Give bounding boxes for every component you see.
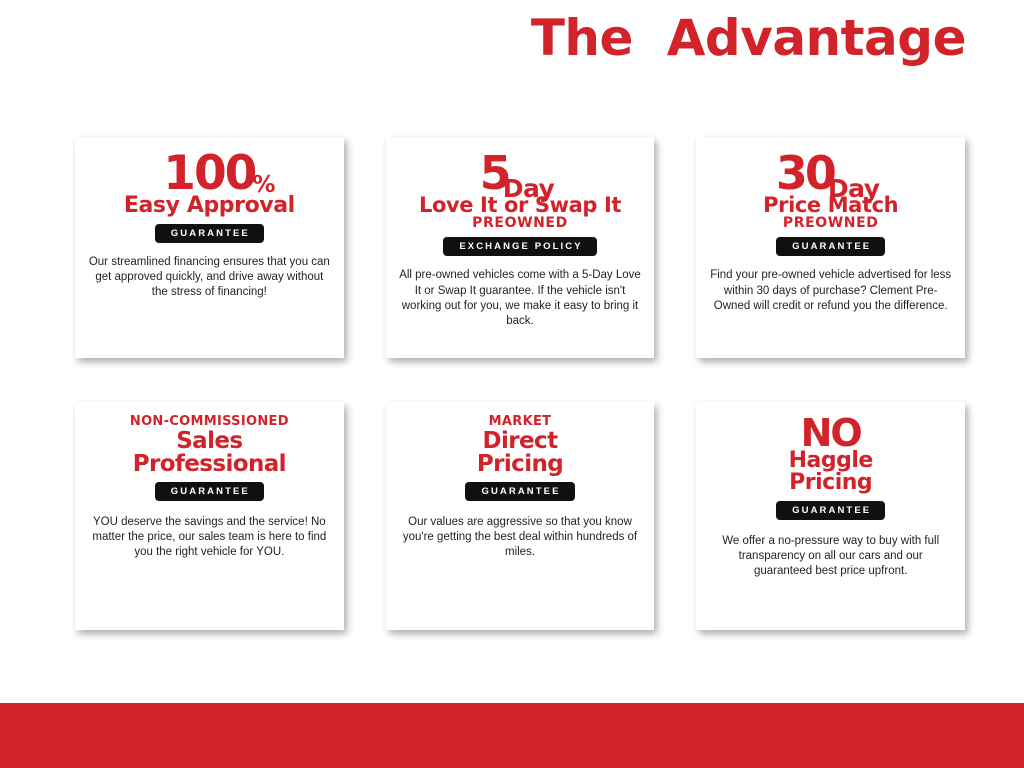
- headline-big-number: NO: [789, 416, 873, 450]
- card-direct-pricing[interactable]: MARKET Direct Pricing GUARANTEE Our valu…: [386, 402, 655, 630]
- card-body-text: We offer a no-pressure way to buy with f…: [708, 534, 953, 580]
- headline-stack-line-1: Direct: [477, 430, 563, 452]
- headline-big-number: 100 %: [163, 151, 255, 197]
- card-no-haggle-pricing[interactable]: NO Haggle Pricing GUARANTEE We offer a n…: [696, 402, 965, 630]
- headline-big-number-text: 30: [776, 146, 834, 200]
- page-title-text: The Advantage: [531, 12, 966, 65]
- card-headline: 5Day Love It or Swap It PREOWNED: [419, 151, 621, 230]
- guarantee-badge: GUARANTEE: [776, 501, 885, 520]
- card-headline: 30Day Price Match PREOWNED: [763, 151, 898, 230]
- card-headline: MARKET Direct Pricing: [477, 416, 563, 475]
- card-body-text: Our values are aggressive so that you kn…: [398, 515, 643, 561]
- card-price-match[interactable]: 30Day Price Match PREOWNED GUARANTEE Fin…: [696, 137, 965, 358]
- headline-stack-line-2: Professional: [130, 453, 289, 475]
- headline-preowned-label: PREOWNED: [419, 217, 621, 231]
- guarantee-badge: GUARANTEE: [776, 237, 885, 256]
- card-sales-professional[interactable]: NON-COMMISSIONED Sales Professional GUAR…: [75, 402, 344, 630]
- headline-day-word: Day: [503, 177, 555, 202]
- headline-stack-line-1: Haggle: [789, 451, 873, 472]
- headline-big-number-text: 100: [163, 146, 255, 201]
- card-easy-approval[interactable]: 100 % Easy Approval GUARANTEE Our stream…: [75, 137, 344, 358]
- headline-big-number: 30Day: [776, 151, 886, 196]
- page-title: The Advantage: [531, 12, 966, 65]
- headline-big-number: 5Day: [480, 151, 561, 196]
- card-body-text: All pre-owned vehicles come with a 5-Day…: [398, 268, 643, 329]
- bottom-accent-bar: [0, 703, 1024, 768]
- slide-canvas: The Advantage 100 % Easy Approval GUARAN…: [0, 0, 1024, 768]
- headline-kicker: NON-COMMISSIONED: [130, 416, 289, 429]
- card-body-text: Find your pre-owned vehicle advertised f…: [708, 268, 953, 314]
- headline-kicker: MARKET: [477, 416, 563, 429]
- card-row-top: 100 % Easy Approval GUARANTEE Our stream…: [75, 137, 965, 358]
- guarantee-badge: GUARANTEE: [155, 224, 264, 243]
- headline-preowned-label: PREOWNED: [763, 217, 898, 231]
- headline-stack-line-1: Sales: [130, 430, 289, 452]
- card-headline: 100 % Easy Approval: [124, 151, 295, 217]
- exchange-policy-badge: EXCHANGE POLICY: [443, 237, 596, 256]
- guarantee-badge: GUARANTEE: [465, 482, 574, 501]
- headline-stack-line-2: Pricing: [789, 473, 873, 494]
- card-body-text: YOU deserve the savings and the service!…: [87, 515, 332, 561]
- headline-day-word: Day: [828, 177, 880, 202]
- card-row-bottom: NON-COMMISSIONED Sales Professional GUAR…: [75, 402, 965, 630]
- card-headline: NON-COMMISSIONED Sales Professional: [130, 416, 289, 475]
- card-headline: NO Haggle Pricing: [789, 416, 873, 494]
- guarantee-badge: GUARANTEE: [155, 482, 264, 501]
- headline-stack-line-2: Pricing: [477, 453, 563, 475]
- advantage-card-grid: 100 % Easy Approval GUARANTEE Our stream…: [75, 137, 965, 630]
- card-love-it-or-swap-it[interactable]: 5Day Love It or Swap It PREOWNED EXCHANG…: [386, 137, 655, 358]
- card-body-text: Our streamlined financing ensures that y…: [87, 255, 332, 301]
- headline-percent-symbol: %: [252, 174, 275, 197]
